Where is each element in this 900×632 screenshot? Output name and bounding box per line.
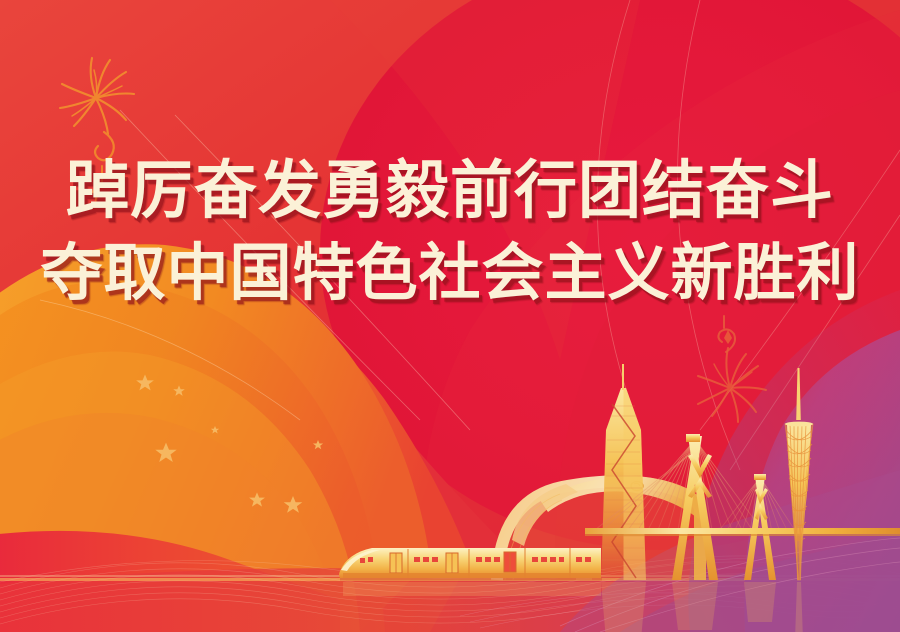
ping-an-finance-center [601,364,646,580]
poster-canvas: 踔厉奋发勇毅前行团结奋斗 夺取中国特色社会主义新胜利 [0,0,900,632]
canton-tower-crown [785,422,813,427]
canton-tower-antenna [796,368,801,420]
skyline-layer [0,0,900,632]
bridge-deck [585,528,900,534]
skyline-reflections [343,582,803,632]
train-underframe [343,573,601,578]
high-speed-train [339,548,602,581]
skyscraper-mast [622,364,624,390]
canton-tower [785,368,813,580]
